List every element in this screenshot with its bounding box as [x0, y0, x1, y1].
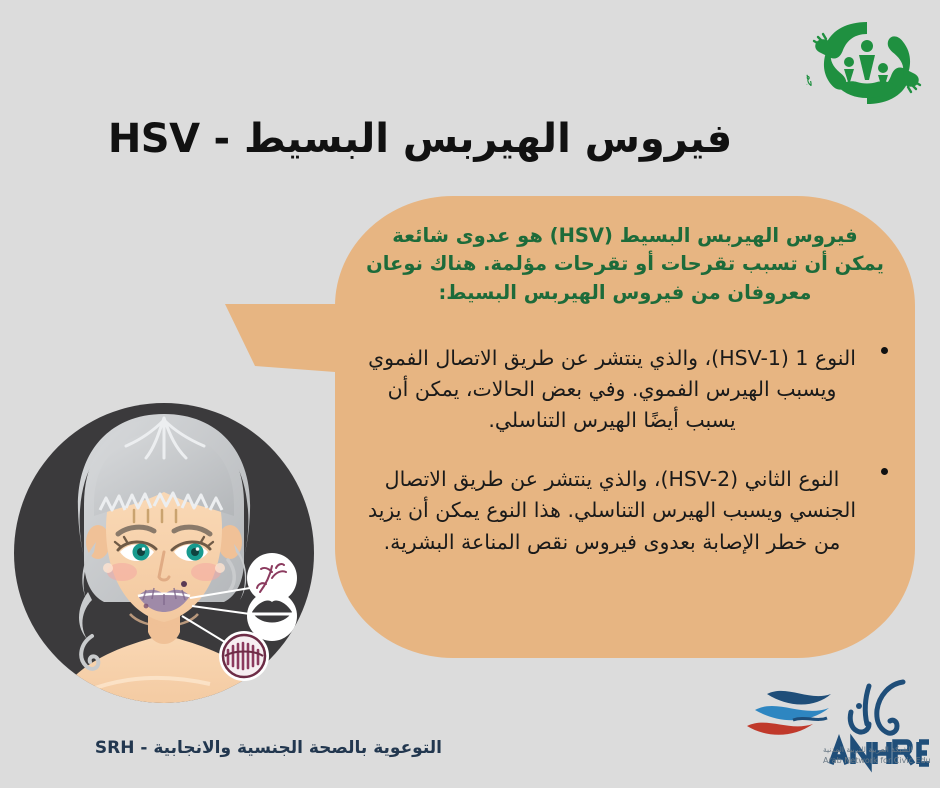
bubble-bullet-list: النوع 1 (HSV-1)، والذي ينتشر عن طريق الا… — [360, 343, 890, 558]
svg-text:جمعية سيدات الطفيلة الخيرية: جمعية سيدات الطفيلة الخيرية — [797, 8, 816, 88]
bullet-text-hsv2: النوع الثاني (HSV-2)، والذي ينتشر عن طري… — [368, 467, 856, 553]
bullet-item-hsv2: النوع الثاني (HSV-2)، والذي ينتشر عن طري… — [360, 464, 890, 557]
bullet-dot-icon — [881, 468, 888, 475]
bullet-item-hsv1: النوع 1 (HSV-1)، والذي ينتشر عن طريق الا… — [360, 343, 890, 436]
page-title: فيروس الهيربس البسيط - HSV — [0, 116, 840, 162]
footer-campaign-text: التوعوية بالصحة الجنسية والانجابية - SRH — [22, 738, 442, 758]
bubble-intro-text: فيروس الهيربس البسيط (HSV) هو عدوى شائعة… — [360, 222, 890, 307]
anhre-english-subtitle: Arab Network for Civic Education — [823, 756, 930, 765]
infographic-page: جمعية سيدات الطفيلة الخيرية فيروس الهيرب… — [0, 0, 940, 788]
anhre-waves — [747, 691, 831, 735]
woman-illustration — [14, 392, 314, 714]
anhre-logo: الشبكة العربية للتربية المدنية Arab Netw… — [655, 676, 930, 774]
hands-circle-icon — [814, 22, 920, 104]
anhre-arabic-mark — [850, 682, 903, 733]
charity-logo: جمعية سيدات الطفيلة الخيرية — [797, 8, 937, 120]
bullet-text-hsv1: النوع 1 (HSV-1)، والذي ينتشر عن طريق الا… — [368, 346, 856, 432]
bullet-dot-icon — [881, 347, 888, 354]
anhre-arabic-subtitle: الشبكة العربية للتربية المدنية — [823, 745, 913, 754]
speech-bubble: فيروس الهيربس البسيط (HSV) هو عدوى شائعة… — [225, 196, 915, 661]
callout-tissue-sample — [219, 631, 269, 681]
